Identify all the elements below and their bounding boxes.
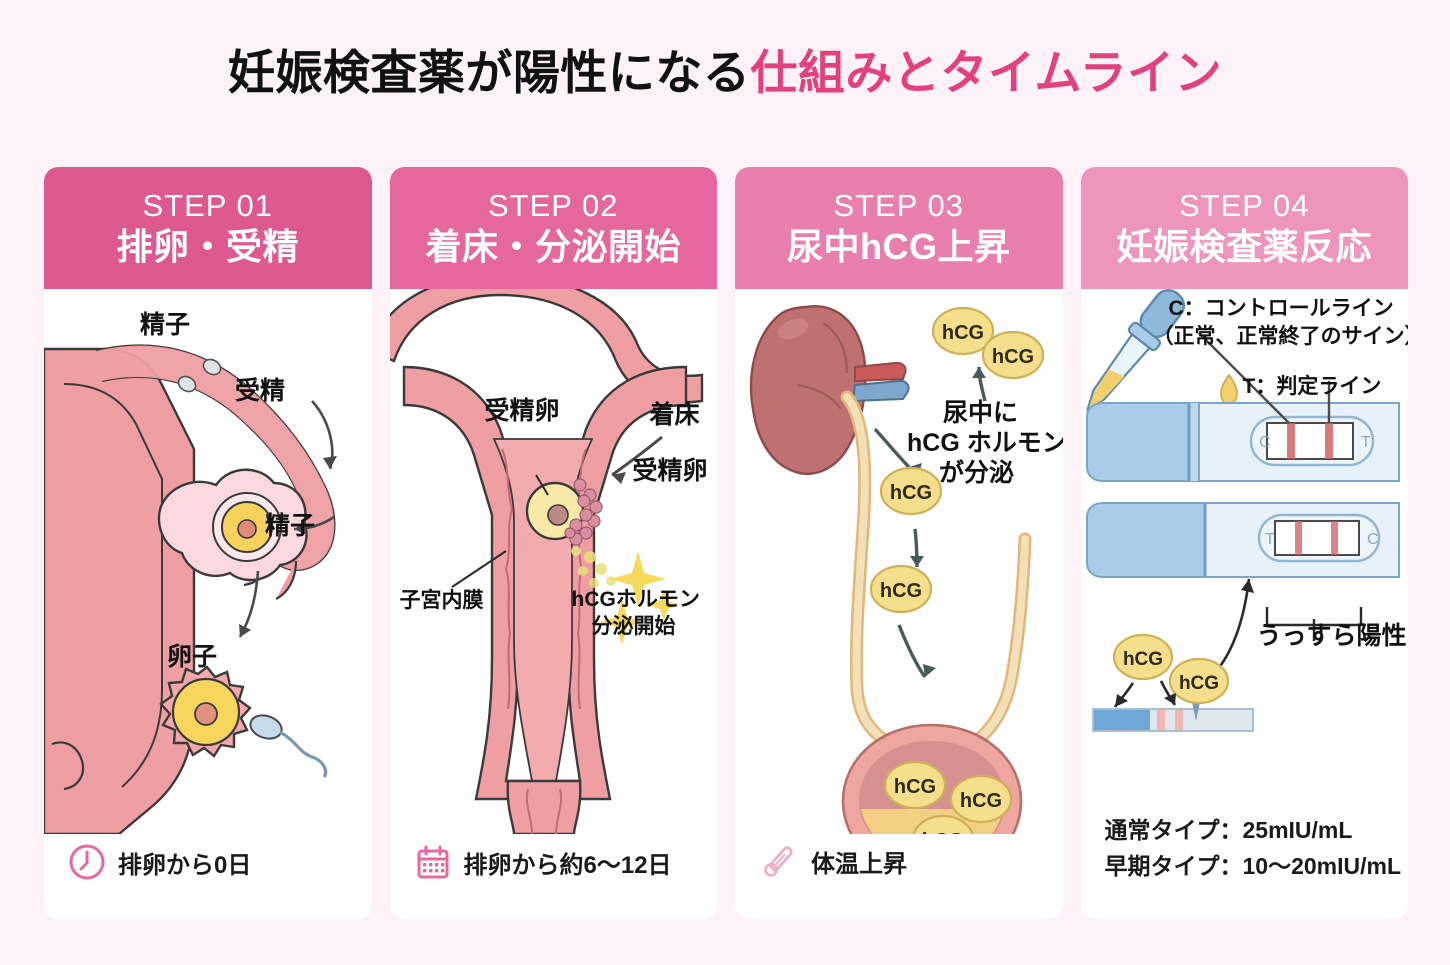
calendar-icon [414, 843, 452, 881]
page-title-part2: 仕組みとタイムライン [750, 46, 1222, 99]
step-title-3: 尿中hCG上昇 [787, 228, 1011, 266]
step-number-3: STEP 03 [833, 190, 964, 223]
step-body-1: 精子 受精 精子 卵子 排卵から0日 [44, 289, 372, 919]
thermometer-icon [759, 841, 799, 881]
step-footer-text-1: 排卵から0日 [118, 845, 251, 880]
step-title-1: 排卵・受精 [116, 228, 299, 266]
svg-text:hCG: hCG [922, 830, 964, 834]
step-card-2: STEP 02 着床・分泌開始 [390, 167, 718, 919]
svg-text:T: T [1265, 531, 1275, 548]
svg-text:hCG: hCG [1178, 673, 1218, 694]
label-test-line: T：判定ライン [1243, 375, 1382, 400]
sensitivity-normal: 通常タイプ：25mIU/mL [1105, 811, 1402, 845]
label-control-line-1: C：コントロールライン [1169, 297, 1394, 322]
step-header-1: STEP 01 排卵・受精 [44, 167, 372, 289]
step-footer-1: 排卵から0日 [44, 843, 372, 881]
urinary-hcg-illustration: hCG hCG hCG hCG hCG hCG hCG [735, 289, 1063, 834]
step-header-4: STEP 04 妊娠検査薬反応 [1081, 167, 1409, 289]
step-header-3: STEP 03 尿中hCG上昇 [735, 167, 1063, 289]
label-urine-note-line3: が分泌 [939, 459, 1014, 489]
infographic-page: 妊娠検査薬が陽性になる仕組みとタイムライン STEP 01 排卵・受精 [0, 0, 1450, 965]
step-card-3: STEP 03 尿中hCG上昇 [735, 167, 1063, 919]
svg-text:hCG: hCG [960, 790, 1002, 812]
step-number-1: STEP 01 [142, 190, 273, 223]
step-card-1: STEP 01 排卵・受精 [44, 167, 372, 919]
page-title-part1: 妊娠検査薬が陽性になる [228, 46, 751, 99]
sensitivity-info: 通常タイプ：25mIU/mL 早期タイプ：10〜20mIU/mL [1105, 811, 1402, 881]
svg-text:hCG: hCG [942, 322, 984, 344]
svg-text:T: T [1361, 434, 1371, 451]
step-body-2: 受精卵 着床 受精卵 子宮内膜 hCGホルモン 分泌開始 [390, 289, 718, 919]
test-kit-illustration: C T [1081, 289, 1409, 834]
step-number-2: STEP 02 [488, 190, 619, 223]
svg-text:hCG: hCG [992, 346, 1034, 368]
svg-text:hCG: hCG [1122, 649, 1162, 670]
ovulation-fertilization-illustration [44, 289, 372, 834]
svg-text:hCG: hCG [890, 482, 932, 504]
label-fertilized-egg-2: 受精卵 [633, 457, 708, 487]
label-hcg-secretion-line2: 分泌開始 [592, 615, 676, 640]
label-faint-positive: うっすら陽性 [1257, 622, 1407, 652]
label-egg: 卵子 [167, 643, 217, 673]
step-title-4: 妊娠検査薬反応 [1116, 228, 1372, 266]
step-cards-container: STEP 01 排卵・受精 [44, 167, 1408, 919]
label-control-line-2: （正常、正常終了のサイン） [1153, 325, 1409, 350]
step-card-4: STEP 04 妊娠検査薬反応 [1081, 167, 1409, 919]
label-hcg-secretion-line1: hCGホルモン [572, 588, 700, 613]
label-urine-note-line2: hCG ホルモン [907, 429, 1063, 459]
step-body-4: C T [1081, 289, 1409, 919]
label-sperm-arrow: 精子 [265, 512, 315, 542]
step-header-2: STEP 02 着床・分泌開始 [390, 167, 718, 289]
page-title: 妊娠検査薬が陽性になる仕組みとタイムライン [0, 34, 1450, 103]
step-footer-text-2: 排卵から約6〜12日 [464, 845, 672, 880]
svg-text:C: C [1259, 434, 1271, 451]
step-footer-4: 通常タイプ：25mIU/mL 早期タイプ：10〜20mIU/mL [1081, 811, 1409, 881]
label-urine-note-line1: 尿中に [943, 399, 1018, 429]
svg-text:C: C [1367, 531, 1379, 548]
label-endometrium: 子宮内膜 [400, 589, 484, 614]
label-fertilized-egg: 受精卵 [485, 397, 560, 427]
step-footer-3: 体温上昇 [735, 841, 1063, 881]
step-number-4: STEP 04 [1179, 190, 1310, 223]
implantation-illustration [390, 289, 718, 834]
svg-text:hCG: hCG [880, 580, 922, 602]
label-implantation: 着床 [650, 401, 700, 431]
step-footer-2: 排卵から約6〜12日 [390, 843, 718, 881]
clock-icon [68, 843, 106, 881]
label-fertilization: 受精 [235, 377, 285, 407]
step-title-2: 着床・分泌開始 [425, 228, 681, 266]
label-sperm-top: 精子 [140, 311, 190, 341]
svg-text:hCG: hCG [894, 776, 936, 798]
sensitivity-early: 早期タイプ：10〜20mIU/mL [1105, 847, 1402, 881]
step-body-3: hCG hCG hCG hCG hCG hCG hCG 尿中に hCG ホルモン… [735, 289, 1063, 919]
step-footer-text-3: 体温上昇 [811, 844, 907, 879]
